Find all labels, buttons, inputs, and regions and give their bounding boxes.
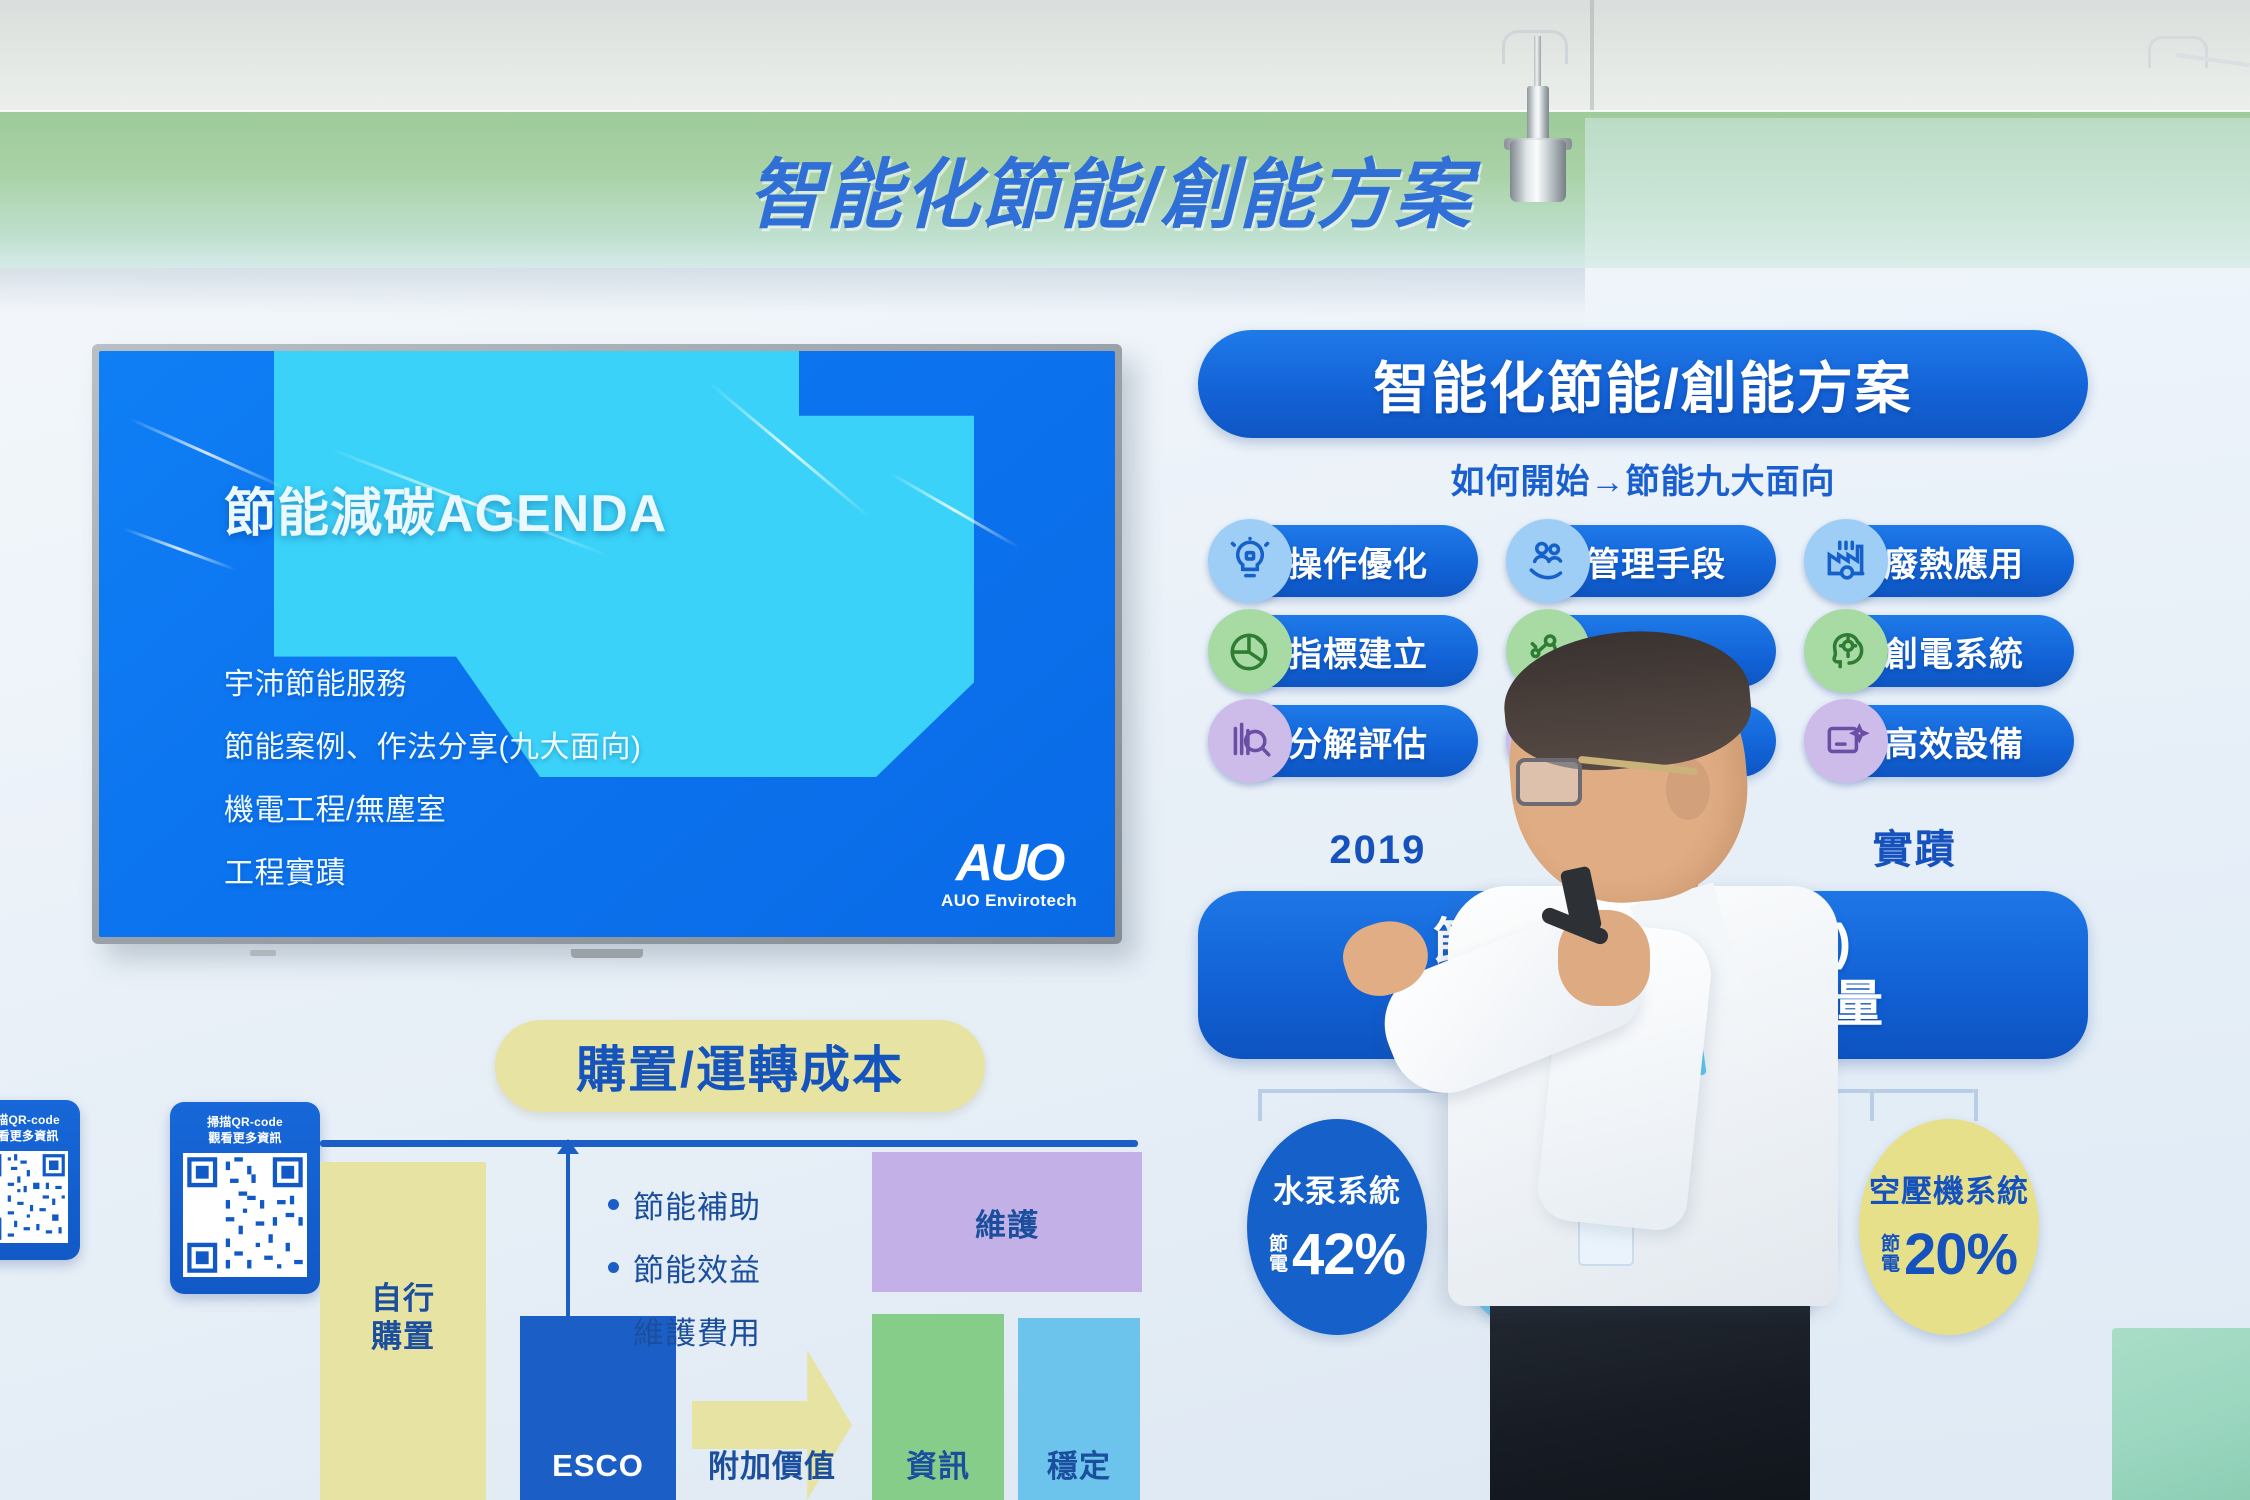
poster-header: 智能化節能/創能方案	[1198, 330, 2088, 438]
poster-header-text: 智能化節能/創能方案	[1373, 344, 1913, 425]
exhibition-scene: 智能化節能/創能方案 節能減碳AGENDA 宇沛節能服務 節能案例、作法分享(九…	[0, 0, 2250, 1500]
spotlight-head	[1510, 140, 1566, 202]
slide-line: 節能案例、作法分享(九大面向)	[224, 722, 641, 766]
cost-bullet: 維護費用	[608, 1308, 761, 1353]
ceiling-hook-right-icon	[2148, 36, 2208, 68]
poster-subtitle: 如何開始→節能九大面向	[1168, 454, 2118, 503]
connector-drop	[1870, 1089, 1874, 1121]
chart-bar-label: 維護	[872, 1200, 1142, 1245]
cost-panel: 購置/運轉成本 自行購置 ESCO 附加價值 資訊 穩定 維護	[320, 1020, 1160, 1500]
qr-card[interactable]: 掃描QR-code觀看更多資訊	[170, 1102, 320, 1294]
qr-caption: 掃描QR-code觀看更多資訊	[180, 1114, 310, 1146]
slide-line: 工程實蹟	[224, 848, 641, 892]
chart-bar-label: 自行購置	[320, 1280, 486, 1356]
green-banner-right	[1585, 118, 2250, 272]
cost-bullet-list: 節能補助 節能效益 維護費用	[608, 1182, 761, 1353]
pill-operation-optimization[interactable]: 操作優化	[1212, 525, 1478, 597]
savings-bubble: 空壓機系統 節電 20%	[1859, 1119, 2039, 1335]
bubble-prefix: 節電	[1881, 1235, 1900, 1274]
pie-chart-icon	[1208, 609, 1292, 693]
bubble-prefix: 節電	[1269, 1235, 1288, 1274]
ceiling	[0, 0, 2250, 128]
glasses-icon	[1516, 758, 1582, 806]
auo-logo: AUO AUO Envirotech	[941, 839, 1077, 911]
savings-bubble: 水泵系統 節電 42%	[1247, 1119, 1427, 1335]
slide-line: 宇沛節能服務	[224, 659, 641, 703]
light-streak	[122, 527, 236, 571]
qr-caption: 掃描QR-code觀看更多資訊	[0, 1112, 70, 1144]
chart-bar-stability: 穩定	[1018, 1318, 1140, 1500]
qr-code-icon[interactable]	[0, 1151, 68, 1243]
bubble-value-group: 節電 42%	[1269, 1221, 1405, 1288]
bubble-value-group: 節電 20%	[1881, 1221, 2017, 1288]
achievement-caption-suffix: 實蹟	[1873, 828, 1957, 872]
bubble-percent: 42%	[1292, 1221, 1405, 1288]
connector-drop	[1974, 1089, 1978, 1121]
presenter-trousers	[1490, 1278, 1810, 1500]
connector-drop	[1258, 1089, 1262, 1121]
pill-management-methods[interactable]: 管理手段	[1510, 525, 1776, 597]
chart-bar-label: 附加價值	[692, 1441, 852, 1486]
qr-card[interactable]: 掃描QR-code觀看更多資訊	[0, 1100, 80, 1260]
cost-bullet: 節能補助	[608, 1182, 761, 1227]
slide-bullet-list: 宇沛節能服務 節能案例、作法分享(九大面向) 機電工程/無塵室 工程實蹟	[224, 659, 641, 892]
pill-label: 指標建立	[1288, 627, 1428, 676]
hall-banner-title: 智能化節能/創能方案	[690, 133, 1530, 243]
slide-line: 機電工程/無塵室	[224, 785, 641, 829]
chart-bar-label: 資訊	[872, 1441, 1004, 1486]
auo-logo-subtitle: AUO Envirotech	[941, 891, 1077, 911]
savings-gap-arrow-icon	[566, 1152, 570, 1348]
monitor-brand-badge	[250, 950, 276, 956]
display-monitor[interactable]: 節能減碳AGENDA 宇沛節能服務 節能案例、作法分享(九大面向) 機電工程/無…	[92, 344, 1122, 944]
factory-gear-icon	[1804, 519, 1888, 603]
chart-bar-maintenance: 維護	[872, 1152, 1142, 1292]
monitor-screen: 節能減碳AGENDA 宇沛節能服務 節能案例、作法分享(九大面向) 機電工程/無…	[99, 351, 1115, 937]
pill-label: 分解評估	[1288, 717, 1428, 766]
achievement-year: 2019	[1329, 828, 1426, 872]
floor-green-block	[2112, 1328, 2250, 1500]
chart-bar-self-purchase: 自行購置	[320, 1162, 486, 1500]
bubble-percent: 20%	[1904, 1221, 2017, 1288]
pill-label: 管理手段	[1586, 537, 1726, 586]
lightbulb-icon	[1208, 519, 1292, 603]
cost-bar-chart: 自行購置 ESCO 附加價值 資訊 穩定 維護 節能補助 節能效益 維護費用	[320, 1140, 1160, 1500]
qr-code-icon[interactable]	[183, 1153, 307, 1277]
people-hand-icon	[1506, 519, 1590, 603]
chart-bar-label: ESCO	[520, 1448, 676, 1484]
cost-bullet: 節能效益	[608, 1245, 761, 1290]
chart-bar-information: 資訊	[872, 1314, 1004, 1500]
ceiling-seam	[1590, 0, 1594, 128]
chart-top-axis	[320, 1140, 1138, 1147]
slide-title: 節能減碳AGENDA	[224, 471, 667, 546]
pill-label: 廢熱應用	[1884, 537, 2024, 586]
bubble-system-name: 水泵系統	[1273, 1166, 1401, 1211]
presenter	[1430, 640, 1860, 1500]
pill-waste-heat-application[interactable]: 廢熱應用	[1808, 525, 2074, 597]
pill-label: 操作優化	[1288, 537, 1428, 586]
magnifier-data-icon	[1208, 699, 1292, 783]
monitor-stand-foot	[571, 949, 643, 958]
cost-panel-title: 購置/運轉成本	[495, 1020, 985, 1112]
auo-logo-wordmark: AUO	[941, 839, 1077, 888]
pill-label: 創電系統	[1884, 627, 2024, 676]
pill-label: 高效設備	[1884, 717, 2024, 766]
chart-bar-label: 穩定	[1018, 1441, 1140, 1486]
bubble-system-name: 空壓機系統	[1869, 1166, 2029, 1211]
cost-panel-title-text: 購置/運轉成本	[576, 1030, 904, 1102]
